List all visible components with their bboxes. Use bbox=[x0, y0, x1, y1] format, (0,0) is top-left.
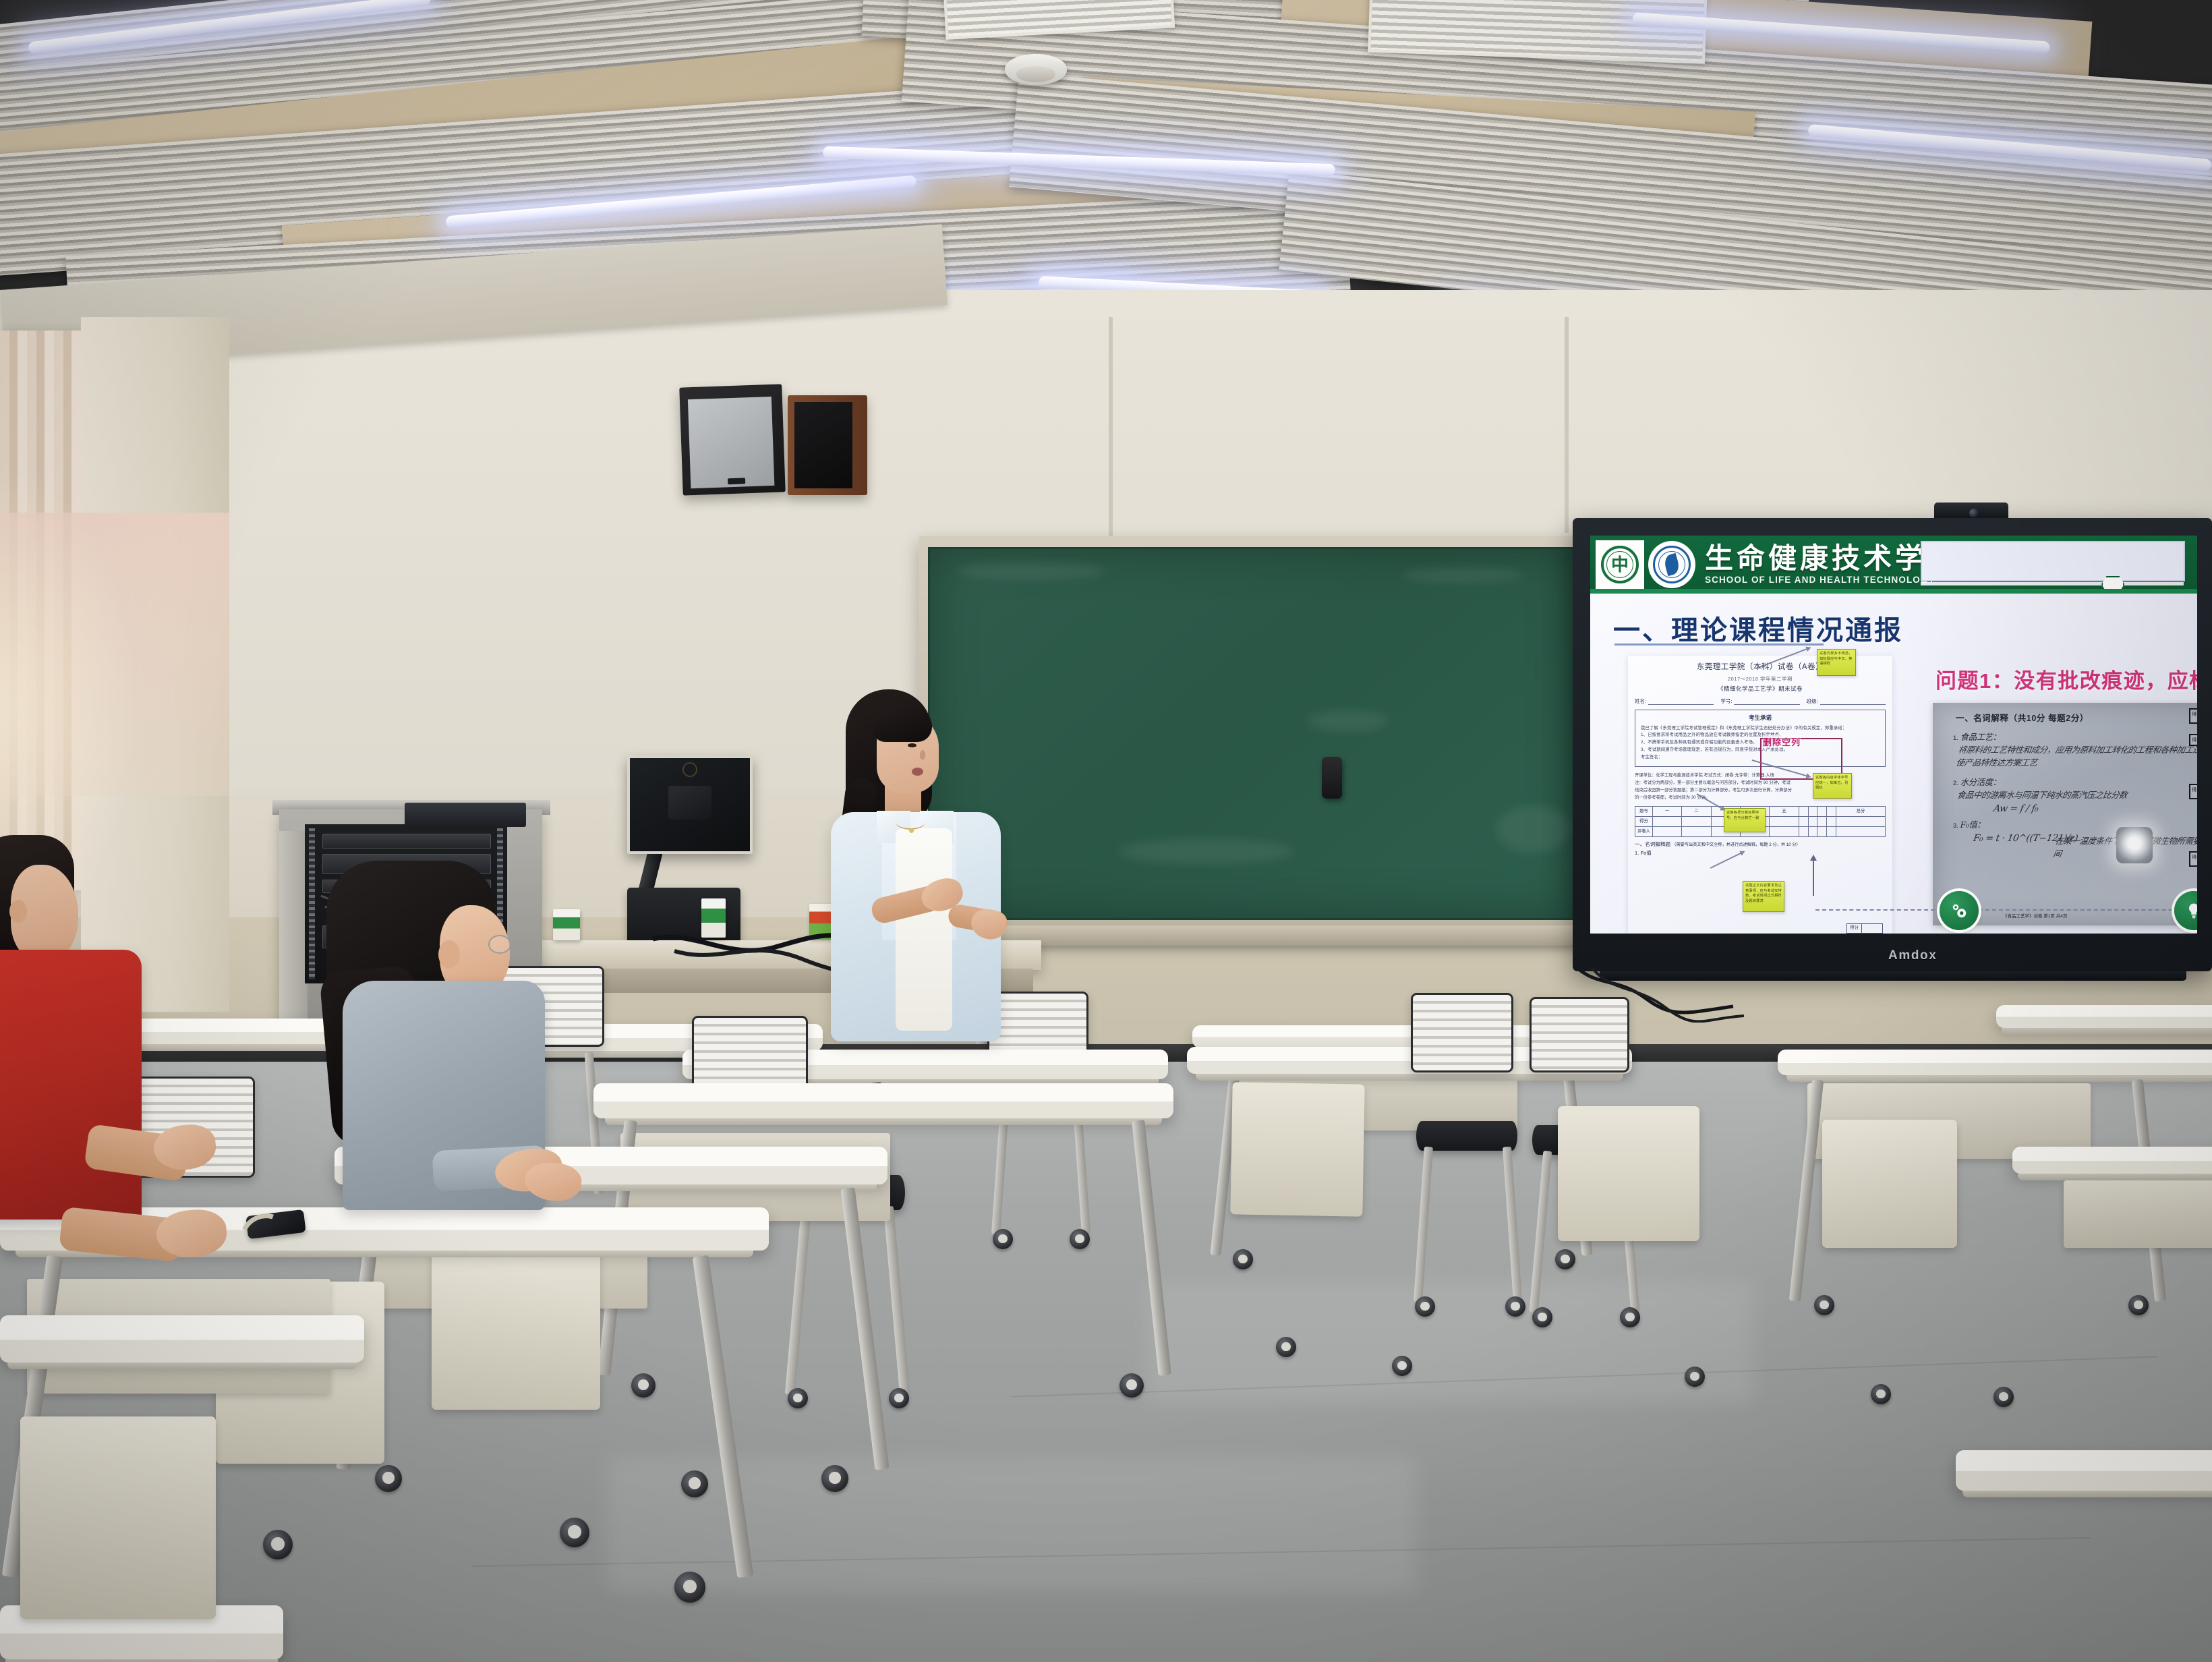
chair-caster bbox=[1276, 1337, 1296, 1357]
classroom-table bbox=[1996, 1005, 2212, 1028]
grade-cell: 五 bbox=[1770, 807, 1799, 817]
presenter-fringe bbox=[873, 704, 932, 742]
chair-caster bbox=[889, 1388, 909, 1408]
photo-glare-spot bbox=[2116, 827, 2153, 863]
table-caster bbox=[681, 1470, 708, 1497]
floor-light-reflection bbox=[1146, 1282, 1753, 1403]
annotation-sticky-note: 试卷各项分数标明字号，应与分数栏一致 bbox=[1724, 808, 1766, 832]
annotation-up-arrow-icon bbox=[1813, 859, 1814, 896]
answer-item: 1. 食品工艺： 将原料的工艺特性和成分，应用为原料加工转化的工程和各种加工过程… bbox=[1953, 731, 2197, 769]
slide-header-rail bbox=[1921, 582, 2184, 585]
problem-heading: 问题1：没有批改痕迹，应标划对错 bbox=[1936, 664, 2197, 694]
pledge-signature-line: 考生签名： bbox=[1641, 754, 1880, 762]
exam-question-1-item: 1. Fo值 bbox=[1635, 850, 1886, 857]
presentation-slide: 中 生命健康技术学院 SCHOOL OF LIFE AND HEALTH TEC… bbox=[1590, 536, 2197, 934]
exam-pledge-box: 考生承诺 我已了解《东莞理工学院考试管理规定》和《东莞理工学院学生违纪处分办法》… bbox=[1635, 710, 1886, 767]
table-caster bbox=[1555, 1249, 1575, 1269]
presenter-remote-clicker[interactable] bbox=[1322, 757, 1342, 799]
question-1-title: 一、名词解释题 bbox=[1635, 841, 1670, 847]
answer-formula: Aw = f / f₀ bbox=[1992, 802, 2197, 816]
grade-cell-empty bbox=[1817, 807, 1827, 817]
field-label-class: 班级: bbox=[1807, 698, 1818, 705]
table-caster bbox=[631, 1373, 656, 1398]
teacher-monitor[interactable] bbox=[627, 755, 753, 854]
answer-item-num: 1. bbox=[1953, 735, 1958, 742]
grade-cell-empty bbox=[1827, 807, 1836, 817]
table-modesty-panel bbox=[2064, 1180, 2212, 1248]
table-caster bbox=[560, 1518, 589, 1547]
pledge-item: 2、不携带手机及各种具有通讯或存储功能的设备进入考场。 bbox=[1641, 739, 1880, 747]
chair-caster bbox=[1685, 1367, 1705, 1387]
wall-seam bbox=[1109, 317, 1113, 560]
classroom-chair-seat bbox=[1416, 1121, 1517, 1151]
smoke-detector-icon bbox=[1005, 54, 1067, 85]
exam-paper-term: 2017～2018 学年第二学期 bbox=[1635, 676, 1886, 683]
field-label-id: 学号: bbox=[1720, 698, 1732, 705]
table-caster bbox=[674, 1572, 705, 1603]
slide-header-panel bbox=[1921, 541, 2185, 581]
grade-cell: 二 bbox=[1682, 807, 1711, 817]
wall-speaker-wood bbox=[788, 395, 867, 495]
pledge-item: 3、考试期间遵守考场管理规定，若有违规行为，同意学院对本人严肃处理。 bbox=[1641, 747, 1880, 754]
table-caster bbox=[1119, 1373, 1144, 1398]
answer-item-text: 将原料的工艺特性和成分，应用为原料加工转化的工程和各种加工过程，使产品特性达方案… bbox=[1955, 744, 2197, 770]
slide-header-accent-line bbox=[1590, 589, 2197, 594]
wall-speaker-black bbox=[679, 384, 785, 495]
grade-cell-empty bbox=[1799, 807, 1808, 817]
slide-title-underline bbox=[1614, 643, 1824, 646]
gears-icon bbox=[1940, 891, 1979, 930]
glasses-icon bbox=[488, 935, 511, 954]
answer-section-heading: 一、名词解释（共10分 每题2分） bbox=[1956, 711, 2197, 724]
classroom-chair-back bbox=[1530, 997, 1629, 1072]
annotation-sticky-note: 试卷式样多不规范，如标题应与中文、英语相符 bbox=[1817, 649, 1856, 676]
answer-item-term: 食品工艺： bbox=[1960, 732, 2001, 742]
table-flip-top-panel bbox=[20, 1416, 216, 1619]
chair-caster bbox=[1070, 1229, 1090, 1249]
table-flip-top-panel bbox=[1230, 1082, 1364, 1216]
wall-pink-tint bbox=[0, 513, 229, 796]
grade-row-header: 题号 bbox=[1635, 807, 1653, 817]
slide-title: 一、理论课程情况通报 bbox=[1613, 608, 1903, 648]
score-box-label: 得分 bbox=[2190, 710, 2197, 722]
exam-question-1: 一、名词解释题 （需要写出英文和中文全称，并进行点述解释，每题 2 分，共 10… bbox=[1635, 841, 1886, 848]
annotation-sticky-note: 试题正文内容要求及注意事项，应与考试安排表、考试时间正式相符及题目要求 bbox=[1743, 881, 1784, 912]
rack-top-equipment bbox=[405, 803, 526, 827]
glasses-bridge bbox=[513, 943, 521, 945]
pledge-intro: 我已了解《东莞理工学院考试管理规定》和《东莞理工学院学生违纪处分办法》中的有关规… bbox=[1641, 725, 1880, 733]
table-caster bbox=[1233, 1249, 1253, 1269]
presenter bbox=[846, 689, 1021, 973]
university-logo-icon: 中 bbox=[1596, 540, 1644, 589]
classroom-table bbox=[1956, 1450, 2212, 1491]
chair-caster bbox=[1993, 1387, 2014, 1407]
classroom-table bbox=[0, 1315, 364, 1363]
chair-caster bbox=[1620, 1307, 1640, 1327]
answer-item-num: 2. bbox=[1953, 780, 1958, 787]
display-bottom-rail bbox=[1600, 971, 2186, 981]
grade-cell-total: 总分 bbox=[1836, 807, 1886, 817]
chair-caster bbox=[1415, 1296, 1435, 1317]
pledge-item: 1、已按要求将考试用品之外的物品放在考试教师指定的位置及指定地点。 bbox=[1641, 732, 1880, 739]
attendee-man-red-shirt bbox=[0, 835, 196, 1307]
classroom-photo: 中 生命健康技术学院 SCHOOL OF LIFE AND HEALTH TEC… bbox=[0, 0, 2212, 1662]
rack-switch-unit bbox=[322, 834, 491, 849]
attendee-man-ear bbox=[9, 900, 27, 923]
answer-photo-footer: 《食品工艺学》试卷 第1页 共4页 bbox=[2003, 912, 2067, 919]
answer-score-box: 得分 9 bbox=[2189, 708, 2197, 724]
interactive-display[interactable]: 中 生命健康技术学院 SCHOOL OF LIFE AND HEALTH TEC… bbox=[1573, 518, 2212, 971]
table-flip-top-panel bbox=[1822, 1120, 1957, 1248]
annotation-sticky-note: 试卷各内容字体字号应统一，如单位、列题标 bbox=[1813, 773, 1852, 799]
pledge-title: 考生承诺 bbox=[1641, 714, 1880, 722]
grade-cell: 一 bbox=[1653, 807, 1682, 817]
table-caster bbox=[2128, 1295, 2149, 1315]
table-caster bbox=[1814, 1295, 1834, 1315]
answer-item-text: 食品中的游离水与同温下纯水的蒸汽压之比分数 bbox=[1956, 789, 2197, 802]
question-1-note: （需要写出英文和中文全称，并进行点述解释，每题 2 分，共 10 分） bbox=[1672, 842, 1800, 847]
answer-item: 2. 水分活度： 食品中的游离水与同温下纯水的蒸汽压之比分数 Aw = f / … bbox=[1953, 776, 2197, 816]
score-cell-label: 得分 bbox=[1847, 924, 1862, 933]
answer-item-term: F₀值： bbox=[1960, 820, 1985, 830]
table-flip-top-panel bbox=[1558, 1106, 1699, 1241]
classroom-table bbox=[593, 1083, 1173, 1118]
score-box-label: 得分 bbox=[2190, 735, 2197, 745]
chair-caster bbox=[1505, 1296, 1525, 1317]
display-brand-label: Amdox bbox=[1888, 948, 1937, 963]
exam-score-cell: 得分 bbox=[1846, 923, 1883, 934]
exam-paper-fields: 姓名: 学号: 班级: bbox=[1635, 698, 1886, 705]
attendee-woman-ear bbox=[438, 940, 460, 969]
score-cell-value bbox=[1862, 924, 1882, 933]
field-label-name: 姓名: bbox=[1635, 698, 1646, 705]
chair-caster bbox=[1532, 1307, 1552, 1327]
grade-row-header: 得分 bbox=[1635, 817, 1653, 827]
grade-cell-empty bbox=[1808, 807, 1817, 817]
delete-column-annotation: 删除空列 bbox=[1763, 735, 1801, 748]
exam-paper-course: 《精细化学品工艺学》期末试卷 bbox=[1635, 685, 1886, 693]
chair-caster bbox=[788, 1388, 808, 1408]
slide-timeline bbox=[1815, 909, 2197, 911]
school-seal-icon bbox=[1648, 541, 1695, 588]
milk-carton bbox=[553, 909, 580, 940]
answer-item-term: 水分活度： bbox=[1960, 777, 2001, 787]
chair-caster bbox=[1392, 1356, 1412, 1376]
handwritten-answer-photo: 一、名词解释（共10分 每题2分） 得分 9 得分 得分 2 得分 2 bbox=[1933, 703, 2197, 925]
attendee-woman-glasses bbox=[272, 861, 556, 1265]
classroom-table bbox=[2012, 1147, 2212, 1174]
slide-header: 中 生命健康技术学院 SCHOOL OF LIFE AND HEALTH TEC… bbox=[1590, 536, 2197, 594]
presenter-inner-top bbox=[896, 828, 952, 1031]
table-caster bbox=[821, 1465, 848, 1492]
classroom-table bbox=[1778, 1050, 2212, 1075]
grade-row-header: 评卷人 bbox=[1635, 827, 1653, 837]
table-caster bbox=[263, 1530, 293, 1559]
answer-item-num: 3. bbox=[1953, 822, 1958, 830]
necklace bbox=[896, 815, 925, 830]
wall-seam bbox=[1565, 317, 1569, 533]
answer-item: 3. F₀值： F₀ = t · 10^((T−121)/z) 在某一温度条件下… bbox=[1953, 819, 2197, 860]
attendee-man-shirt bbox=[0, 950, 142, 1220]
monitor-brand-icon bbox=[682, 762, 697, 777]
table-caster bbox=[375, 1465, 402, 1492]
logo-ring-glyph: 中 bbox=[1601, 546, 1639, 583]
chair-caster bbox=[1871, 1384, 1891, 1404]
chair-caster bbox=[993, 1229, 1013, 1249]
